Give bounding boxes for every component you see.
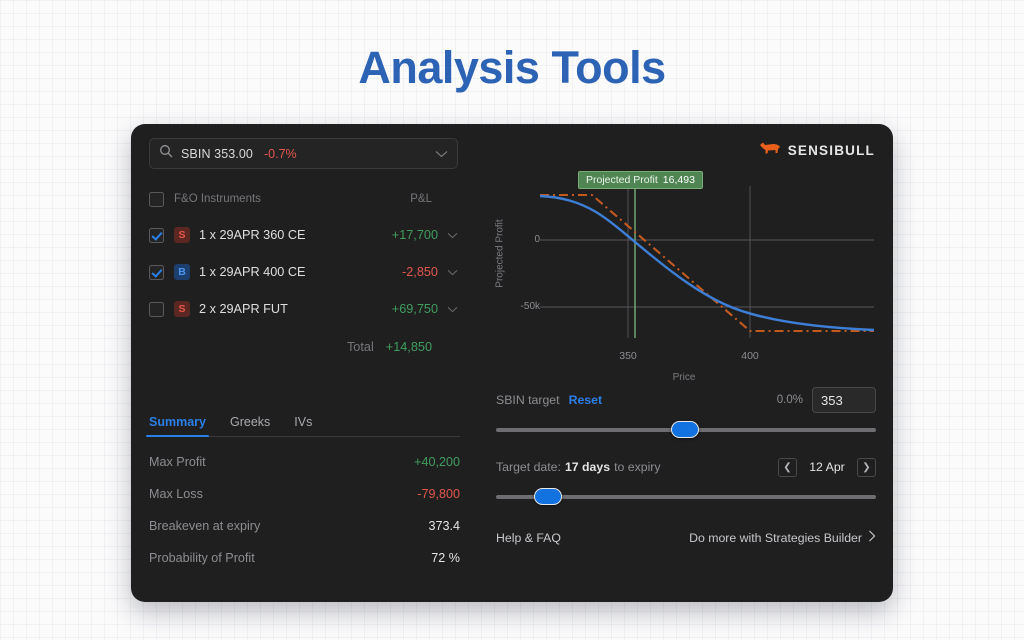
target-date-row: Target date: 17 days to expiry ❮ 12 Apr … [496,454,876,480]
projected-profit-tooltip: Projected Profit16,493 [578,171,703,189]
leg-checkbox[interactable] [149,265,164,280]
leg-pl-value: +69,750 [392,302,438,316]
side-badge-sell: S [174,301,190,317]
strategies-builder-label: Do more with Strategies Builder [689,531,862,545]
tab-summary[interactable]: Summary [149,415,206,435]
leg-pl-value: +17,700 [392,228,438,242]
date-stepper: ❮ 12 Apr ❯ [778,458,876,477]
side-badge-buy: B [174,264,190,280]
x-axis-label: Price [484,372,884,383]
footer-row: Help & FAQ Do more with Strategies Build… [496,530,876,545]
stat-row-max-loss: Max Loss -79,800 [149,481,460,507]
pl-column-header: P&L [410,193,432,205]
target-date-prefix: Target date: [496,460,561,474]
slider-thumb[interactable] [534,488,562,505]
stat-row-probability: Probability of Profit 72 % [149,545,460,571]
total-value: +14,850 [386,340,432,354]
tab-ivs[interactable]: IVs [294,415,312,435]
leg-pl-value: -2,850 [402,265,438,279]
stat-label: Max Profit [149,455,206,469]
table-row[interactable]: S 1 x 29APR 360 CE +17,700 [149,219,458,251]
stat-value: +40,200 [414,455,460,469]
target-value-input[interactable]: 353 [812,387,876,413]
reset-button[interactable]: Reset [569,393,603,407]
chevron-down-icon[interactable] [447,226,458,244]
total-label: Total [347,340,374,354]
table-row[interactable]: B 1 x 29APR 400 CE -2,850 [149,256,458,288]
tooltip-value: 16,493 [663,174,695,186]
target-price-slider[interactable] [496,419,876,441]
search-change-text: -0.7% [264,147,297,161]
search-symbol-text: SBIN 353.00 [181,147,253,161]
y-tick-0: 0 [500,234,540,245]
total-row: Total +14,850 [149,334,458,360]
app-window: SBIN 353.00 -0.7% F&O Instruments P&L S … [131,124,893,602]
stat-label: Probability of Profit [149,551,255,565]
brand-logo: SENSIBULL [759,140,875,160]
tab-greeks[interactable]: Greeks [230,415,270,435]
analysis-tabs-block: Summary Greeks IVs Max Profit +40,200 Ma… [149,411,460,571]
tooltip-label: Projected Profit [586,174,658,186]
left-panel: SBIN 353.00 -0.7% F&O Instruments P&L S … [131,124,476,602]
leg-checkbox[interactable] [149,228,164,243]
chevron-left-icon[interactable]: ❮ [778,458,797,477]
side-badge-sell: S [174,227,190,243]
search-icon [159,144,173,163]
chevron-right-icon[interactable]: ❯ [857,458,876,477]
help-faq-link[interactable]: Help & FAQ [496,531,561,545]
stat-row-max-profit: Max Profit +40,200 [149,449,460,475]
target-date-slider[interactable] [496,486,876,508]
leg-checkbox[interactable] [149,302,164,317]
instrument-search-input[interactable]: SBIN 353.00 -0.7% [149,138,458,169]
page-title: Analysis Tools [0,42,1024,94]
chart-controls: SBIN target Reset 0.0% 353 Target date: … [496,387,876,545]
expiry-payoff-line [540,195,874,331]
y-tick-neg50k: -50k [500,301,540,312]
leg-name: 1 x 29APR 400 CE [199,265,306,279]
target-date-suffix: to expiry [614,460,660,474]
stat-value: 373.4 [428,519,460,533]
strategies-builder-link[interactable]: Do more with Strategies Builder [689,530,876,545]
bull-icon [759,140,781,160]
stat-value: -79,800 [417,487,460,501]
leg-name: 2 x 29APR FUT [199,302,288,316]
target-label: SBIN target [496,393,560,407]
tab-bar: Summary Greeks IVs [149,411,460,435]
target-control-row: SBIN target Reset 0.0% 353 [496,387,876,413]
leg-name: 1 x 29APR 360 CE [199,228,306,242]
chevron-down-icon[interactable] [447,300,458,318]
stat-label: Max Loss [149,487,203,501]
right-panel: SENSIBULL 0 -50k 350 400 Projected [476,124,893,602]
chevron-right-icon [868,530,876,545]
stat-value: 72 % [431,551,460,565]
chevron-down-icon[interactable] [435,145,448,163]
x-tick-400: 400 [730,350,770,362]
instruments-header-row: F&O Instruments P&L [149,184,458,214]
stat-row-breakeven: Breakeven at expiry 373.4 [149,513,460,539]
chevron-down-icon[interactable] [447,263,458,281]
projected-pl-curve [540,196,874,330]
target-date-value: 12 Apr [805,460,849,474]
chart-svg [484,168,884,368]
target-days-value: 17 days [565,460,610,474]
stat-label: Breakeven at expiry [149,519,260,533]
target-percent: 0.0% [777,394,803,406]
x-tick-350: 350 [608,350,648,362]
select-all-checkbox[interactable] [149,192,164,207]
instruments-header-label: F&O Instruments [174,193,261,205]
y-axis-label: Projected Profit [495,194,506,314]
slider-thumb[interactable] [671,421,699,438]
brand-name: SENSIBULL [788,143,875,158]
table-row[interactable]: S 2 x 29APR FUT +69,750 [149,293,458,325]
